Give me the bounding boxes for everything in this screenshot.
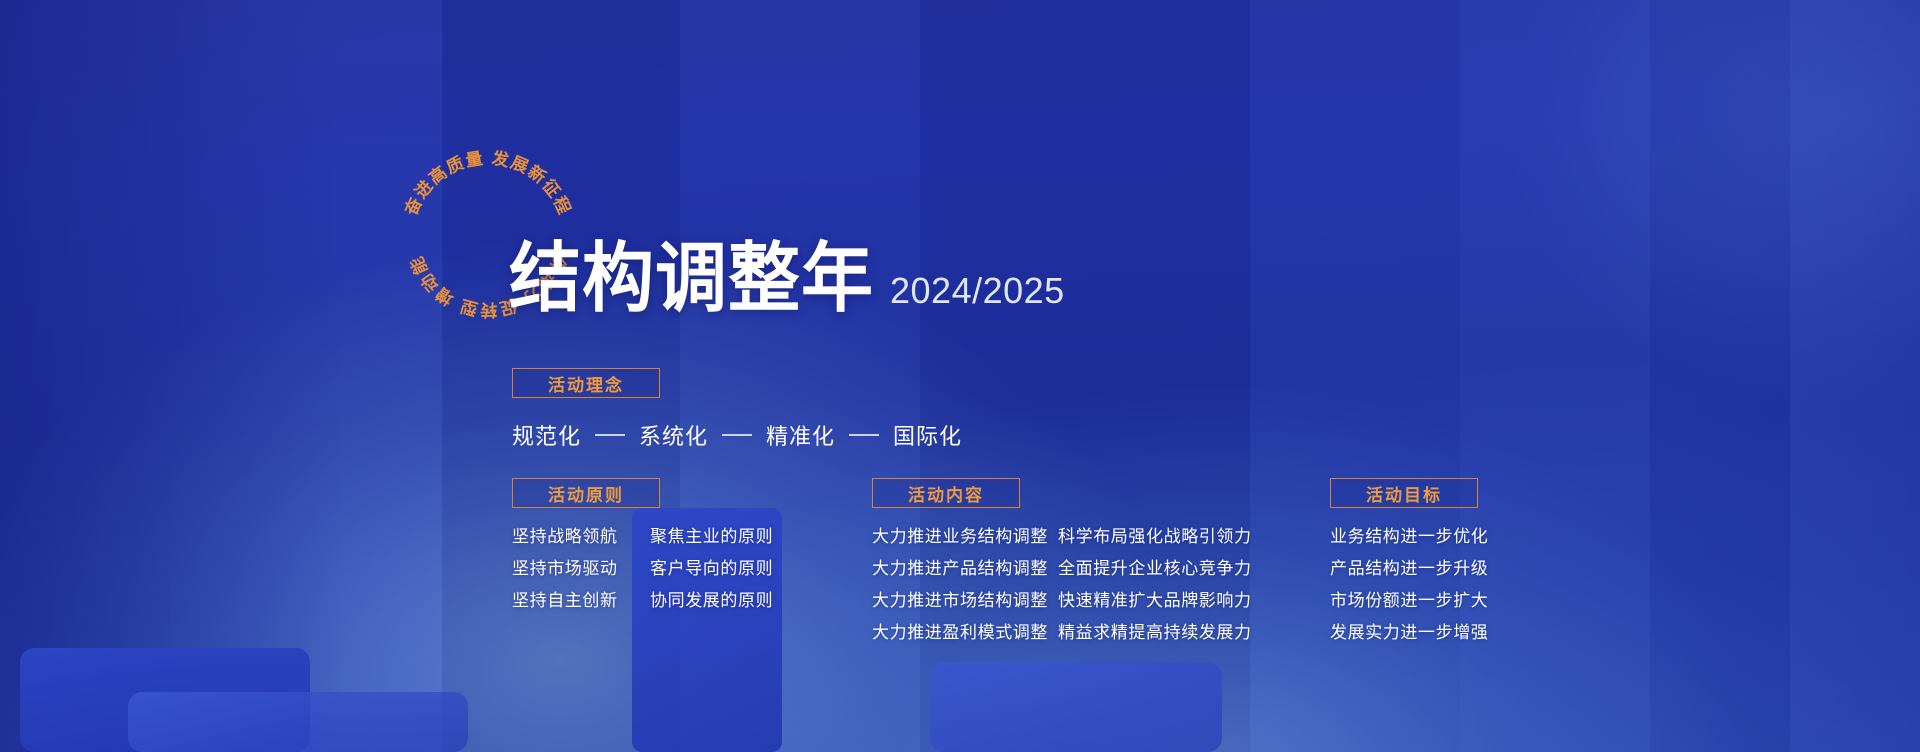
year-range-label: 2024/2025 <box>890 273 1065 316</box>
list-item: 发展实力进一步增强 <box>1330 622 1488 645</box>
seal-top-arc-textpath: 奋进高质量 发展新征程 <box>400 148 574 220</box>
list-item: 大力推进产品结构调整 全面提升企业核心竞争力 <box>872 558 1252 581</box>
concept-keyword-1: 规范化 <box>512 419 581 451</box>
list-item: 产品结构进一步升级 <box>1330 558 1488 581</box>
badge-activity-contents: 活动内容 <box>872 478 1020 508</box>
badge-activity-principles: 活动原则 <box>512 478 660 508</box>
list-item-part-a: 坚持战略领航 <box>512 526 650 549</box>
list-item: 大力推进市场结构调整 快速精准扩大品牌影响力 <box>872 590 1252 613</box>
title-block: 结构调整年 2024/2025 <box>509 244 1065 316</box>
banner-content: 奋进高质量 发展新征程 保动力 促转型 增动能 结构调整年 2024/2025 … <box>0 0 1920 752</box>
list-item-part-b: 快速精准扩大品牌影响力 <box>1058 590 1252 613</box>
concept-keyword-3: 精准化 <box>766 419 835 451</box>
badge-activity-goals: 活动目标 <box>1330 478 1478 508</box>
list-item-part-b: 聚焦主业的原则 <box>650 526 773 549</box>
list-item-part-b: 协同发展的原则 <box>650 590 773 613</box>
page-title: 结构调整年 <box>509 240 874 316</box>
concept-separator-icon <box>722 434 752 436</box>
badge-activity-concept: 活动理念 <box>512 368 660 398</box>
goals-list: 业务结构进一步优化 产品结构进一步升级 市场份额进一步扩大 发展实力进一步增强 <box>1330 526 1488 645</box>
concept-keyword-line: 规范化 系统化 精准化 国际化 <box>512 419 962 451</box>
column-principles: 活动原则 坚持战略领航 聚焦主业的原则 坚持市场驱动 客户导向的原则 坚持自主创… <box>512 478 773 613</box>
concept-separator-icon <box>849 434 879 436</box>
column-contents: 活动内容 大力推进业务结构调整 科学布局强化战略引领力 大力推进产品结构调整 全… <box>872 478 1252 645</box>
list-item-part-b: 全面提升企业核心竞争力 <box>1058 558 1252 581</box>
column-goals: 活动目标 业务结构进一步优化 产品结构进一步升级 市场份额进一步扩大 发展实力进… <box>1330 478 1488 645</box>
concept-keyword-4: 国际化 <box>893 419 962 451</box>
list-item-part-a: 大力推进盈利模式调整 <box>872 622 1058 645</box>
list-item: 坚持自主创新 协同发展的原则 <box>512 590 773 613</box>
banner-root: 奋进高质量 发展新征程 保动力 促转型 增动能 结构调整年 2024/2025 … <box>0 0 1920 752</box>
list-item-part-a: 坚持自主创新 <box>512 590 650 613</box>
list-item: 坚持市场驱动 客户导向的原则 <box>512 558 773 581</box>
list-item-part-b: 精益求精提高持续发展力 <box>1058 622 1252 645</box>
principles-list: 坚持战略领航 聚焦主业的原则 坚持市场驱动 客户导向的原则 坚持自主创新 协同发… <box>512 526 773 613</box>
seal-top-arc-label: 奋进高质量 发展新征程 <box>400 148 574 220</box>
list-item-part-a: 大力推进业务结构调整 <box>872 526 1058 549</box>
list-item-part-a: 大力推进产品结构调整 <box>872 558 1058 581</box>
list-item: 业务结构进一步优化 <box>1330 526 1488 549</box>
list-item: 大力推进盈利模式调整 精益求精提高持续发展力 <box>872 622 1252 645</box>
list-item-part-a: 大力推进市场结构调整 <box>872 590 1058 613</box>
list-item: 市场份额进一步扩大 <box>1330 590 1488 613</box>
list-item-part-b: 客户导向的原则 <box>650 558 773 581</box>
contents-list: 大力推进业务结构调整 科学布局强化战略引领力 大力推进产品结构调整 全面提升企业… <box>872 526 1252 645</box>
list-item-part-a: 坚持市场驱动 <box>512 558 650 581</box>
list-item: 坚持战略领航 聚焦主业的原则 <box>512 526 773 549</box>
concept-keyword-2: 系统化 <box>639 419 708 451</box>
list-item-part-b: 科学布局强化战略引领力 <box>1058 526 1252 549</box>
list-item: 大力推进业务结构调整 科学布局强化战略引领力 <box>872 526 1252 549</box>
concept-separator-icon <box>595 434 625 436</box>
